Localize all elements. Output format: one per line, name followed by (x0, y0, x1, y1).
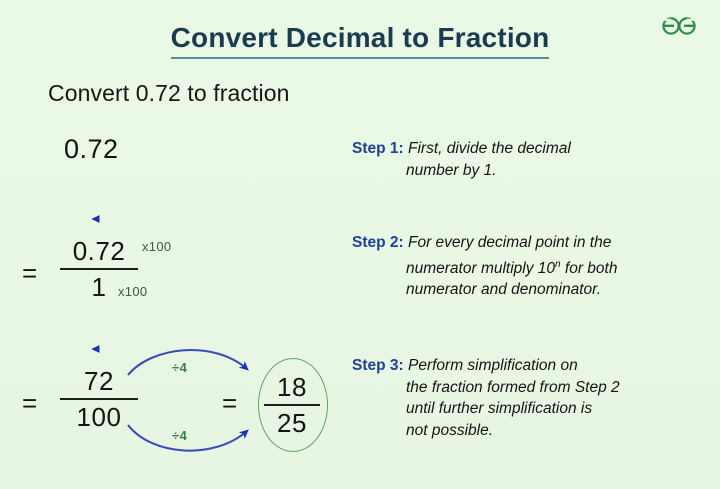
page-title-text: Convert Decimal to Fraction (171, 22, 550, 59)
equals-sign-2: = (22, 388, 37, 419)
divide-arc-bottom (128, 425, 247, 451)
fraction-result: 18 25 (264, 372, 320, 438)
step-2-label: Step 2: (352, 234, 404, 251)
step-2-line-2-before: numerator multiply 10 (406, 260, 555, 277)
fraction-denominator: 100 (60, 402, 138, 432)
step-3-line-3: until further simplification is (352, 398, 692, 420)
step-1-line-2: number by 1. (352, 160, 692, 182)
fraction-numerator: 0.72 (60, 236, 138, 266)
denominator-multiplier-note: x100 (118, 284, 147, 299)
problem-statement: Convert 0.72 to fraction (48, 80, 289, 107)
step-1: Step 1: First, divide the decimal number… (352, 138, 692, 181)
step-3-line-2: the fraction formed from Step 2 (352, 377, 692, 399)
step-3-line-4: not possible. (352, 420, 692, 442)
step-1-label: Step 1: (352, 140, 404, 157)
equals-sign-1: = (22, 258, 37, 289)
step-2: Step 2: For every decimal point in the n… (352, 232, 692, 301)
equals-sign-3: = (222, 388, 237, 419)
step-1-line-1: First, divide the decimal (408, 140, 571, 157)
step-3-label: Step 3: (352, 357, 404, 374)
fraction-numerator: 72 (60, 366, 138, 396)
decimal-value: 0.72 (64, 134, 119, 165)
fraction-numerator: 18 (264, 372, 320, 402)
step-2-line-3: numerator and denominator. (352, 279, 692, 301)
numerator-multiplier-note: x100 (142, 239, 171, 254)
step-2-line-2: numerator multiply 10n for both (352, 254, 692, 280)
fraction-bar (60, 398, 138, 400)
step-2-line-2-after: for both (561, 260, 618, 277)
divide-arc-top (128, 350, 247, 375)
step-3-line-1: Perform simplification on (408, 357, 578, 374)
slide-canvas: Convert Decimal to Fraction Convert 0.72… (0, 0, 720, 489)
fraction-denominator: 25 (264, 408, 320, 438)
fraction-step2: 72 100 (60, 366, 138, 432)
step-3: Step 3: Perform simplification on the fr… (352, 355, 692, 441)
fraction-bar (264, 404, 320, 406)
step-2-line-1: For every decimal point in the (408, 234, 611, 251)
page-title: Convert Decimal to Fraction (0, 22, 720, 59)
divide-label-top: ÷4 (172, 360, 187, 375)
fraction-bar (60, 268, 138, 270)
divide-label-bottom: ÷4 (172, 428, 187, 443)
